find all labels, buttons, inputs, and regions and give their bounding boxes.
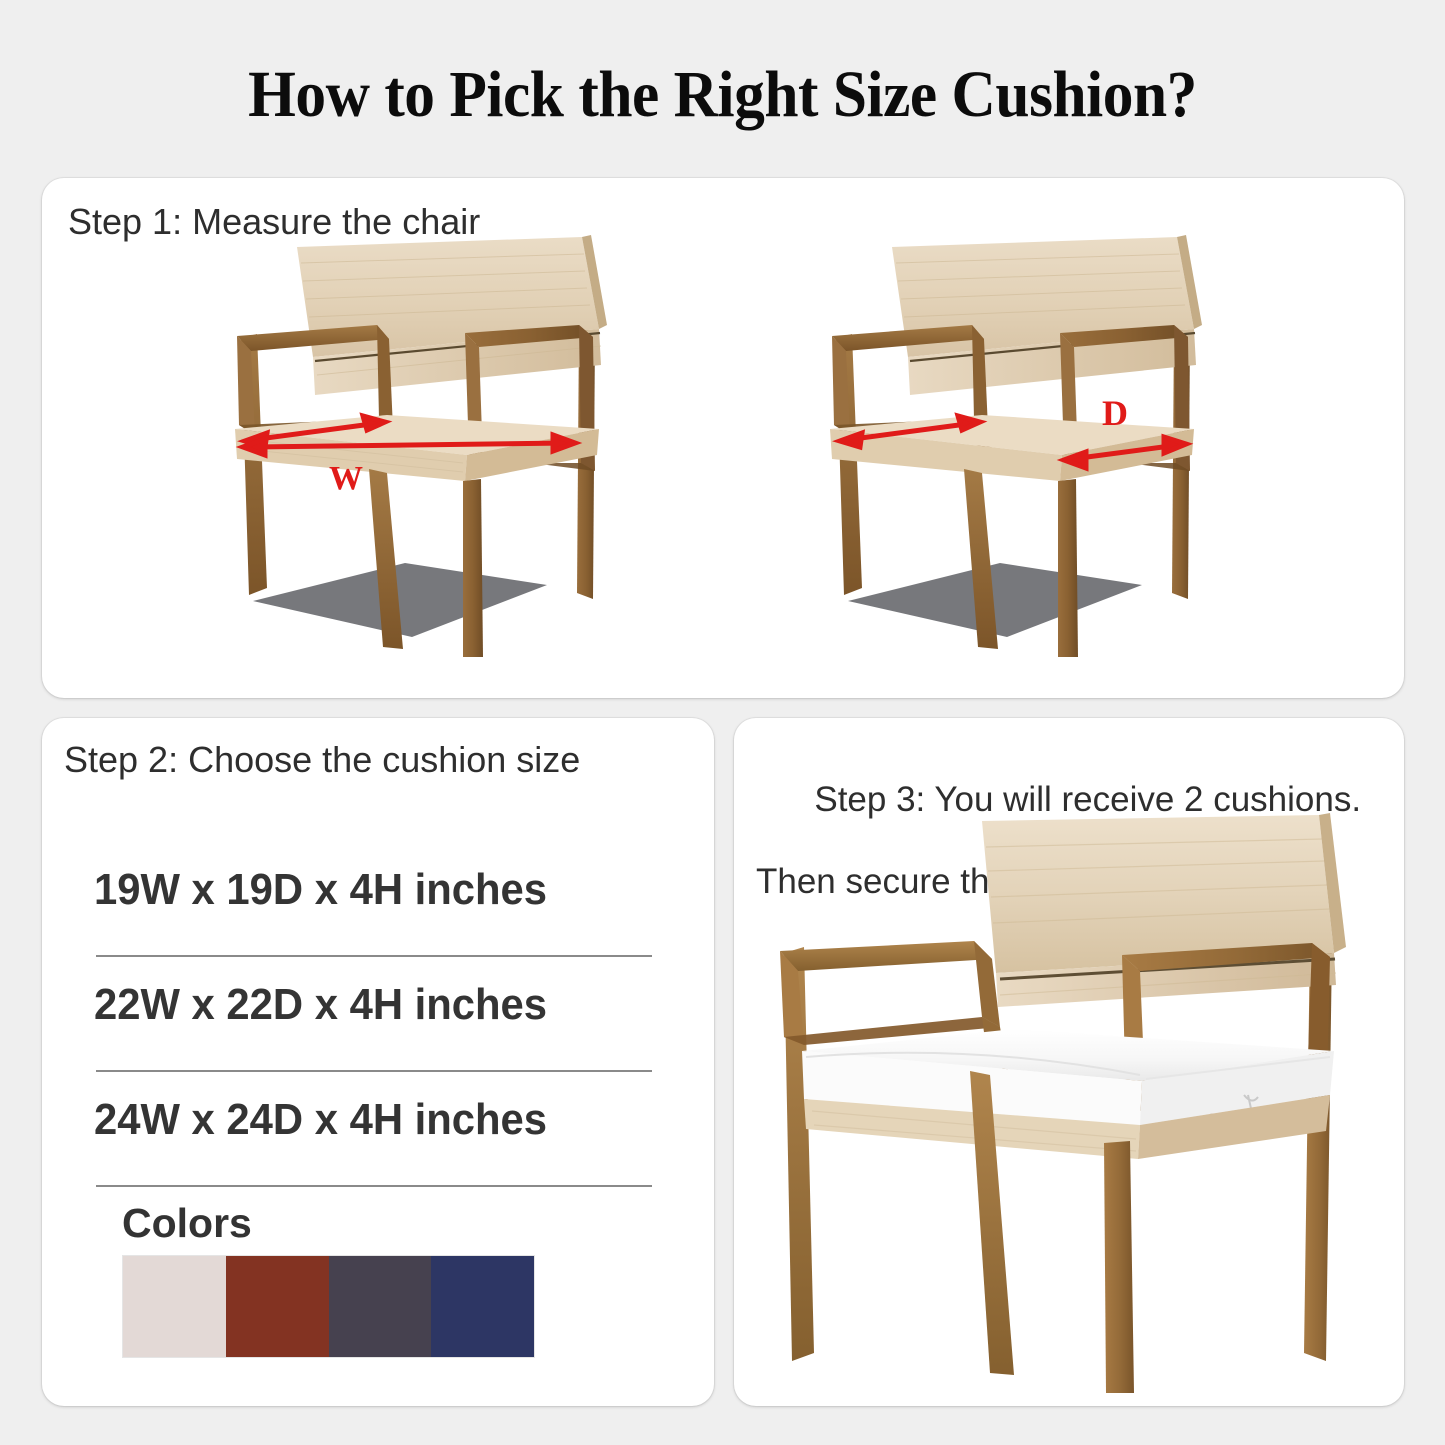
size-divider [96,1070,652,1072]
depth-label: D [1102,393,1128,433]
size-divider [96,955,652,957]
size-option-row[interactable]: 22W x 22D x 4H inches [94,971,662,1086]
color-swatch-beige-white[interactable] [123,1256,226,1357]
colors-section: Colors [122,1200,542,1358]
size-option-label: 24W x 24D x 4H inches [94,1086,634,1146]
chair-depth-diagram: D [822,233,1252,658]
color-swatch-charcoal-gray[interactable] [329,1256,432,1357]
size-option-label: 22W x 22D x 4H inches [94,971,634,1031]
size-divider [96,1185,652,1187]
colors-title: Colors [122,1200,542,1246]
chair-with-cushion-image [774,813,1374,1398]
panel-step-1: Step 1: Measure the chair [42,178,1404,698]
size-option-row[interactable]: 24W x 24D x 4H inches [94,1086,662,1201]
size-option-label: 19W x 19D x 4H inches [94,856,634,916]
color-swatch-strip [122,1255,535,1358]
step-2-label: Step 2: Choose the cushion size [64,738,580,781]
width-label: W [329,460,363,497]
color-swatch-navy-blue[interactable] [431,1256,534,1357]
panel-step-3: Step 3: You will receive 2 cushions. The… [734,718,1404,1406]
chair-width-diagram: W [227,233,657,658]
cushion-size-list: 19W x 19D x 4H inches 22W x 22D x 4H inc… [94,856,662,1201]
panel-step-2: Step 2: Choose the cushion size 19W x 19… [42,718,714,1406]
infographic-page: How to Pick the Right Size Cushion? Step… [0,0,1445,1445]
color-swatch-rust-red[interactable] [226,1256,329,1357]
page-title: How to Pick the Right Size Cushion? [51,56,1395,134]
size-option-row[interactable]: 19W x 19D x 4H inches [94,856,662,971]
